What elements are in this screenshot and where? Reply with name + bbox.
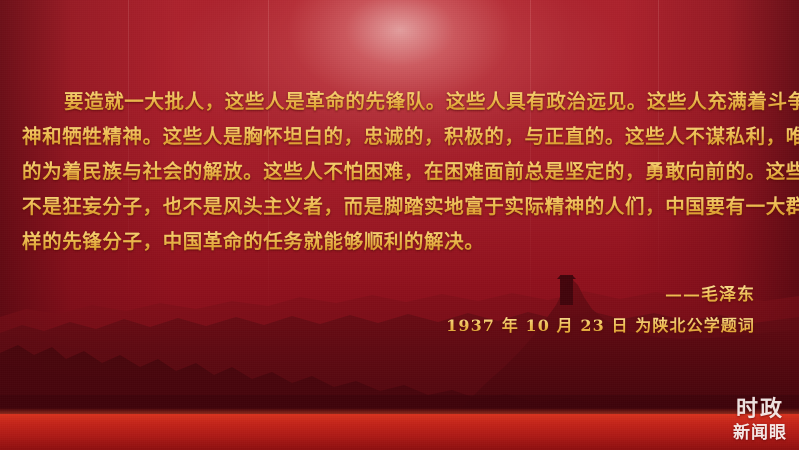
watermark-line-two: 新闻眼 <box>729 425 791 442</box>
attribution: ——毛泽东 1937 年 10 月 23 日 为陕北公学题词 <box>446 284 755 336</box>
watermark-line-one: 时政 <box>729 399 791 421</box>
quote-date-note: 1937 年 10 月 23 日 为陕北公学题词 <box>446 315 755 336</box>
quote-line: 要造就一大批人，这些人是革命的先锋队。这些人具有政治远见。这些人充满着斗争精 <box>0 84 799 119</box>
quote-line: 样的先锋分子，中国革命的任务就能够顺利的解决。 <box>0 224 799 259</box>
poster-image: 要造就一大批人，这些人是革命的先锋队。这些人具有政治远见。这些人充满着斗争精 神… <box>0 0 799 450</box>
quote-line: 不是狂妄分子，也不是风头主义者，而是脚踏实地富于实际精神的人们，中国要有一大群这 <box>0 189 799 224</box>
quote-line: 的为着民族与社会的解放。这些人不怕困难，在困难面前总是坚定的，勇敢向前的。这些人 <box>0 154 799 189</box>
quote-line: 神和牺牲精神。这些人是胸怀坦白的，忠诚的，积极的，与正直的。这些人不谋私利，唯一 <box>0 119 799 154</box>
channel-watermark-logo: 时政 新闻眼 <box>729 399 791 442</box>
quote-block: 要造就一大批人，这些人是革命的先锋队。这些人具有政治远见。这些人充满着斗争精 神… <box>0 84 799 259</box>
bottom-red-band <box>0 414 799 450</box>
quote-author: ——毛泽东 <box>446 284 755 306</box>
